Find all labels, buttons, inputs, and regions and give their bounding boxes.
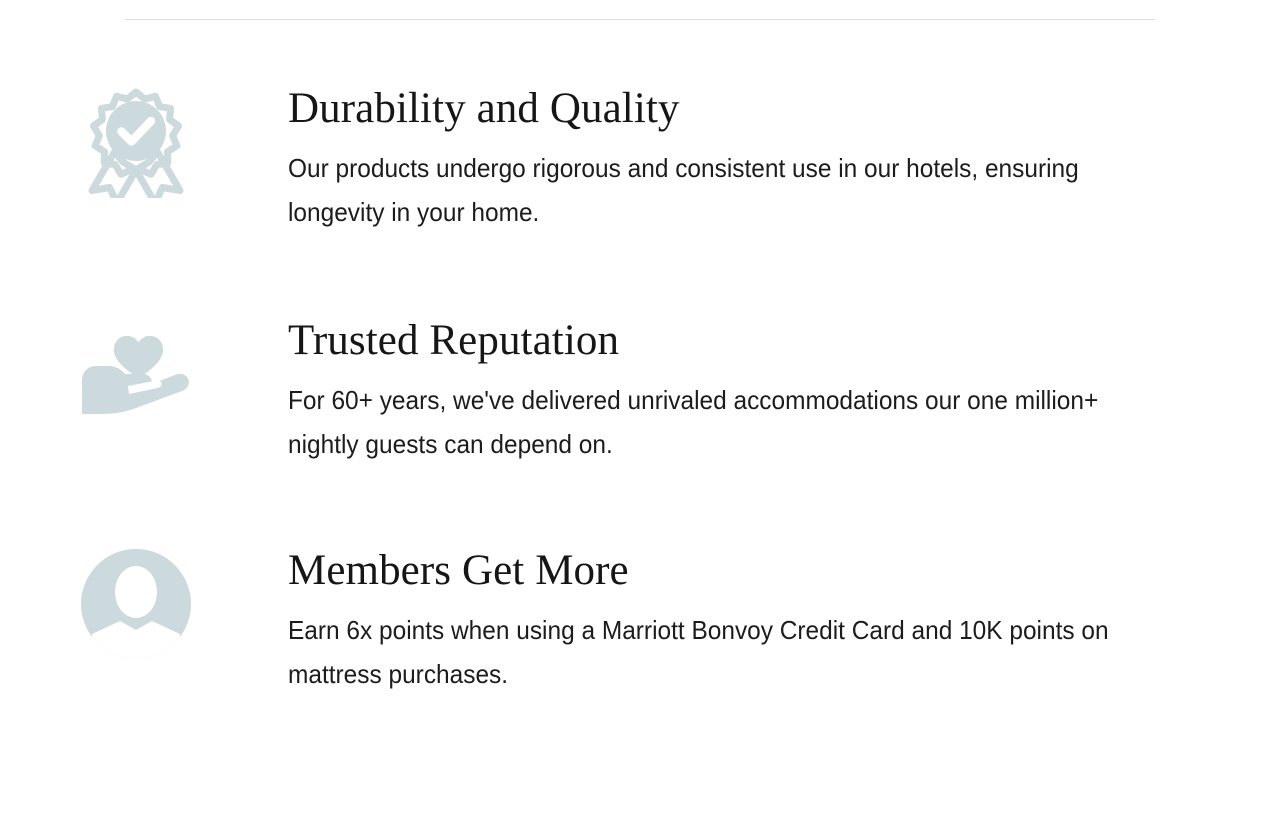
feature-title: Durability and Quality (288, 86, 1193, 132)
feature-description: Our products undergo rigorous and consis… (288, 146, 1134, 234)
feature-description: Earn 6x points when using a Marriott Bon… (288, 608, 1134, 696)
feature-highlights-page: Durability and Quality Our products unde… (0, 0, 1280, 818)
feature-description: For 60+ years, we've delivered unrivaled… (288, 378, 1134, 466)
feature-title: Trusted Reputation (288, 318, 1193, 364)
feature-body: Members Get More Earn 6x points when usi… (288, 548, 1193, 696)
user-avatar-icon (76, 548, 196, 660)
hand-holding-heart-icon (76, 318, 196, 430)
feature-body: Trusted Reputation For 60+ years, we've … (288, 318, 1193, 466)
feature-title: Members Get More (288, 548, 1193, 594)
feature-body: Durability and Quality Our products unde… (288, 86, 1193, 234)
award-badge-check-icon (76, 86, 196, 198)
section-divider (125, 19, 1155, 20)
